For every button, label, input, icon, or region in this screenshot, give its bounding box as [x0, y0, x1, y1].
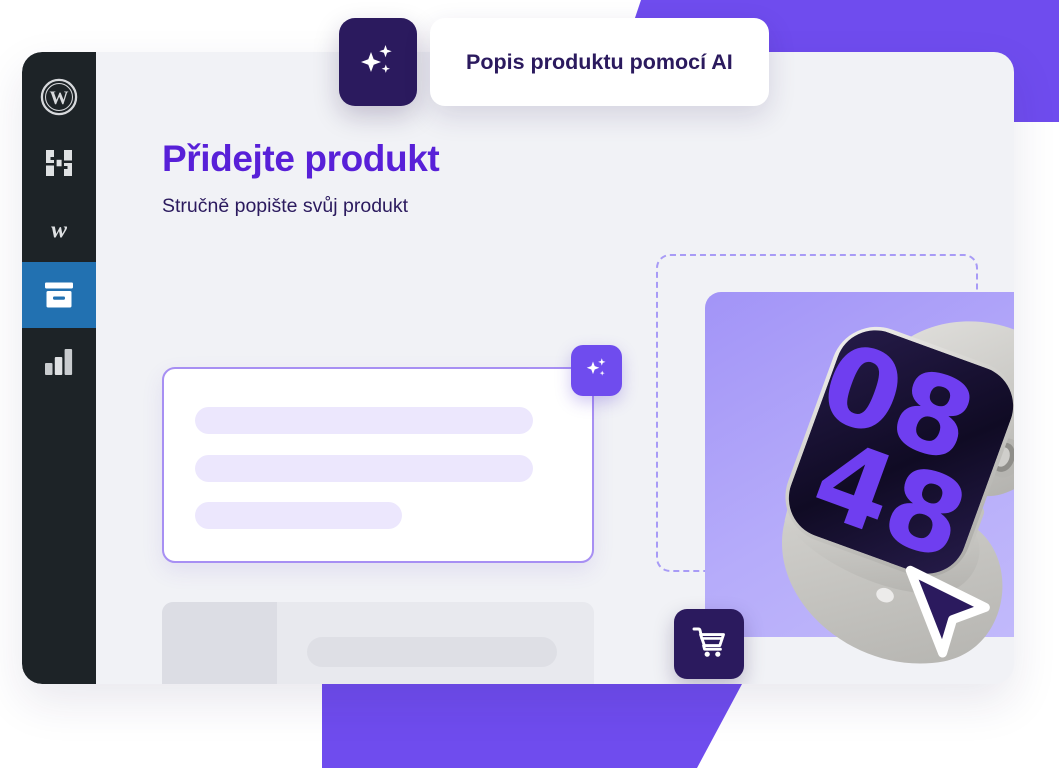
shopping-cart-icon [691, 625, 727, 664]
placeholder-line [307, 637, 557, 667]
sidebar: W w [22, 52, 96, 684]
products-archive-icon [43, 281, 75, 309]
svg-text:w: w [51, 218, 67, 244]
sidebar-item-wordpress[interactable]: W [22, 64, 96, 130]
page-subtitle: Stručně popište svůj produkt [162, 195, 1014, 218]
wordpress-logo-icon: W [40, 78, 78, 116]
webflow-logo-icon: w [40, 214, 78, 244]
mouse-pointer-icon [893, 552, 1003, 662]
sidebar-item-products[interactable] [22, 262, 96, 328]
page-title: Přidejte produkt [162, 140, 1014, 179]
editor-panel: W w [22, 52, 1014, 684]
analytics-bar-chart-icon [43, 346, 75, 376]
skeleton-line [195, 502, 402, 529]
ai-banner-label[interactable]: Popis produktu pomocí AI [430, 18, 769, 106]
sparkles-icon [584, 355, 610, 386]
product-list-placeholder-card [162, 602, 594, 684]
sparkles-icon [357, 39, 399, 86]
decorative-purple-shape-bottom [322, 684, 742, 768]
ai-banner-icon-button[interactable] [339, 18, 417, 106]
placeholder-thumbnail [162, 602, 277, 684]
sidebar-item-webflow[interactable]: w [22, 196, 96, 262]
hostinger-logo-icon [42, 146, 76, 180]
cart-badge[interactable] [674, 609, 744, 679]
skeleton-line [195, 407, 533, 434]
sidebar-item-analytics[interactable] [22, 328, 96, 394]
ai-description-banner: Popis produktu pomocí AI [339, 18, 769, 106]
sidebar-item-hostinger[interactable] [22, 130, 96, 196]
skeleton-line [195, 455, 533, 482]
ai-generate-button[interactable] [571, 345, 622, 396]
illustration-stage: W w [0, 0, 1059, 768]
product-description-field-wrapper [162, 367, 594, 563]
svg-text:W: W [50, 88, 69, 109]
